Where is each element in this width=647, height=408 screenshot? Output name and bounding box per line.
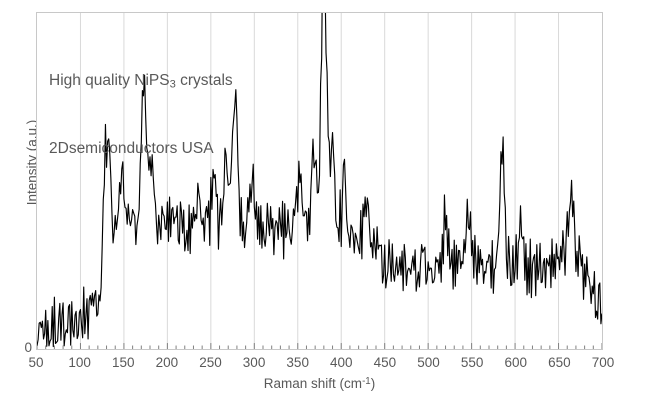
- x-axis-label-pre: Raman shift (cm: [264, 376, 362, 391]
- x-axis-tick-650: 650: [548, 355, 571, 370]
- x-axis-tick-400: 400: [330, 355, 353, 370]
- x-axis-tick-350: 350: [286, 355, 309, 370]
- x-axis-tick-200: 200: [156, 355, 179, 370]
- x-axis-tick-600: 600: [505, 355, 528, 370]
- x-axis-tick-250: 250: [199, 355, 222, 370]
- x-axis-tick-labels: 5010015020025030035040045050055060065070…: [36, 355, 603, 375]
- raman-spectrum-figure: Intensity (a.u.) 0 High quality NiPS3 cr…: [0, 0, 647, 408]
- y-axis-tick-0: 0: [16, 340, 32, 355]
- plot-area: High quality NiPS3 crystals 2Dsemiconduc…: [36, 12, 603, 350]
- x-axis-label-post: ): [371, 376, 376, 391]
- x-axis-tick-300: 300: [243, 355, 266, 370]
- x-axis-tick-500: 500: [417, 355, 440, 370]
- spectrum-line: [37, 13, 602, 349]
- x-axis-label: Raman shift (cm-1): [36, 376, 603, 391]
- x-axis-tick-550: 550: [461, 355, 484, 370]
- x-axis-tick-100: 100: [68, 355, 91, 370]
- x-axis-label-superscript: -1: [362, 376, 371, 387]
- x-axis-tick-700: 700: [592, 355, 615, 370]
- x-axis-tick-450: 450: [374, 355, 397, 370]
- x-axis-tick-150: 150: [112, 355, 135, 370]
- x-axis-tick-50: 50: [28, 355, 43, 370]
